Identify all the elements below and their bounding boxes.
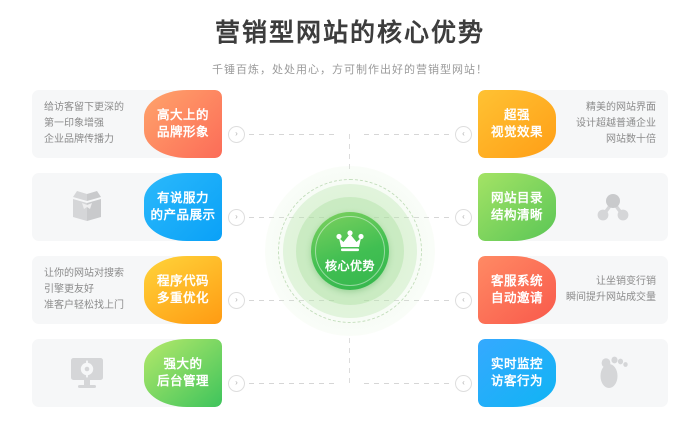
card-icon-slot <box>32 173 142 241</box>
card-tab[interactable]: 高大上的 品牌形象 <box>144 90 222 158</box>
tab-line-1: 有说服力 <box>150 190 215 207</box>
page-subtitle: 千锤百炼，处处用心，方可制作出好的营销型网站！ <box>0 62 700 78</box>
crown-icon <box>335 230 365 252</box>
card-tab[interactable]: 客服系统 自动邀请 <box>478 256 556 324</box>
chevron-right-icon: › <box>228 209 245 226</box>
tab-line-2: 的产品展示 <box>150 207 215 224</box>
card-product-display[interactable]: 有说服力 的产品展示 <box>32 173 222 241</box>
tab-line-1: 超强 <box>491 107 543 124</box>
tab-line-2: 结构清晰 <box>491 207 543 224</box>
card-site-structure[interactable]: 网站目录 结构清晰 <box>478 173 668 241</box>
card-visitor-monitoring[interactable]: 实时监控 访客行为 <box>478 339 668 407</box>
desc-line-2: 第一印象增强 <box>44 116 148 132</box>
card-description: 让你的网站对搜索 引擎更友好 准客户轻松找上门 <box>40 256 148 324</box>
card-icon-slot <box>558 339 668 407</box>
chevron-right-icon: › <box>228 292 245 309</box>
tab-line-2: 多重优化 <box>157 290 209 307</box>
desc-line-1: 精美的网站界面 <box>552 100 656 116</box>
connector-left-1: › <box>228 126 340 142</box>
card-tab[interactable]: 网站目录 结构清晰 <box>478 173 556 241</box>
desc-line-2: 引擎更友好 <box>44 282 148 298</box>
right-column: 超强 视觉效果 精美的网站界面 设计超越普通企业 网站数十倍 网站目录 结构清晰 <box>478 90 668 422</box>
dashed-line <box>364 134 451 135</box>
center-hub[interactable]: 核心优势 <box>265 166 435 336</box>
page-header: 营销型网站的核心优势 千锤百炼，处处用心，方可制作出好的营销型网站！ <box>0 0 700 78</box>
vertical-dashed-bottom <box>349 338 350 383</box>
tab-line-2: 后台管理 <box>157 373 209 390</box>
card-customer-service[interactable]: 客服系统 自动邀请 让坐销变行销 瞬间提升网站成交量 <box>478 256 668 324</box>
tab-line-1: 实时监控 <box>491 356 543 373</box>
desc-line-2: 瞬间提升网站成交量 <box>552 290 656 306</box>
card-tab[interactable]: 强大的 后台管理 <box>144 339 222 407</box>
chevron-left-icon: ‹ <box>455 209 472 226</box>
connector-left-4: › <box>228 375 340 391</box>
tab-line-1: 强大的 <box>157 356 209 373</box>
chevron-left-icon: ‹ <box>455 292 472 309</box>
desc-line-3: 企业品牌传播力 <box>44 132 148 148</box>
card-tab[interactable]: 超强 视觉效果 <box>478 90 556 158</box>
infographic-board: 给访客留下更深的 第一印象增强 企业品牌传播力 高大上的 品牌形象 <box>0 90 700 423</box>
card-brand-image[interactable]: 给访客留下更深的 第一印象增强 企业品牌传播力 高大上的 品牌形象 <box>32 90 222 158</box>
page-title: 营销型网站的核心优势 <box>0 16 700 50</box>
card-description: 精美的网站界面 设计超越普通企业 网站数十倍 <box>552 90 660 158</box>
tab-line-1: 程序代码 <box>157 273 209 290</box>
tab-line-1: 高大上的 <box>157 107 209 124</box>
tab-line-1: 客服系统 <box>491 273 543 290</box>
dashed-line <box>249 134 336 135</box>
card-description: 让坐销变行销 瞬间提升网站成交量 <box>552 256 660 324</box>
card-icon-slot <box>32 339 142 407</box>
card-tab[interactable]: 程序代码 多重优化 <box>144 256 222 324</box>
dashed-line <box>364 383 451 384</box>
tab-line-1: 网站目录 <box>491 190 543 207</box>
chevron-left-icon: ‹ <box>455 126 472 143</box>
tab-line-2: 视觉效果 <box>491 124 543 141</box>
card-tab[interactable]: 有说服力 的产品展示 <box>144 173 222 241</box>
card-backend-management[interactable]: 强大的 后台管理 <box>32 339 222 407</box>
crown-icon-wrap <box>335 230 365 257</box>
left-column: 给访客留下更深的 第一印象增强 企业品牌传播力 高大上的 品牌形象 <box>32 90 222 422</box>
open-box-icon <box>67 188 107 226</box>
desc-line-3: 网站数十倍 <box>552 132 656 148</box>
monitor-gear-icon <box>67 355 107 391</box>
tab-line-2: 自动邀请 <box>491 290 543 307</box>
desc-line-1: 给访客留下更深的 <box>44 100 148 116</box>
card-visual-effects[interactable]: 超强 视觉效果 精美的网站界面 设计超越普通企业 网站数十倍 <box>478 90 668 158</box>
chevron-right-icon: › <box>228 375 245 392</box>
connector-right-1: ‹ <box>360 126 472 142</box>
core-label: 核心优势 <box>325 259 375 273</box>
card-tab[interactable]: 实时监控 访客行为 <box>478 339 556 407</box>
node-tree-icon <box>593 189 633 225</box>
chevron-right-icon: › <box>228 126 245 143</box>
card-description: 给访客留下更深的 第一印象增强 企业品牌传播力 <box>40 90 148 158</box>
desc-line-1: 让坐销变行销 <box>552 274 656 290</box>
connector-right-4: ‹ <box>360 375 472 391</box>
tab-line-2: 访客行为 <box>491 373 543 390</box>
card-code-optimization[interactable]: 让你的网站对搜索 引擎更友好 准客户轻松找上门 程序代码 多重优化 <box>32 256 222 324</box>
desc-line-1: 让你的网站对搜索 <box>44 266 148 282</box>
desc-line-2: 设计超越普通企业 <box>552 116 656 132</box>
core-badge[interactable]: 核心优势 <box>311 212 389 290</box>
card-icon-slot <box>558 173 668 241</box>
footprint-icon <box>596 354 630 392</box>
dashed-line <box>249 383 336 384</box>
desc-line-3: 准客户轻松找上门 <box>44 298 148 314</box>
chevron-left-icon: ‹ <box>455 375 472 392</box>
tab-line-2: 品牌形象 <box>157 124 209 141</box>
